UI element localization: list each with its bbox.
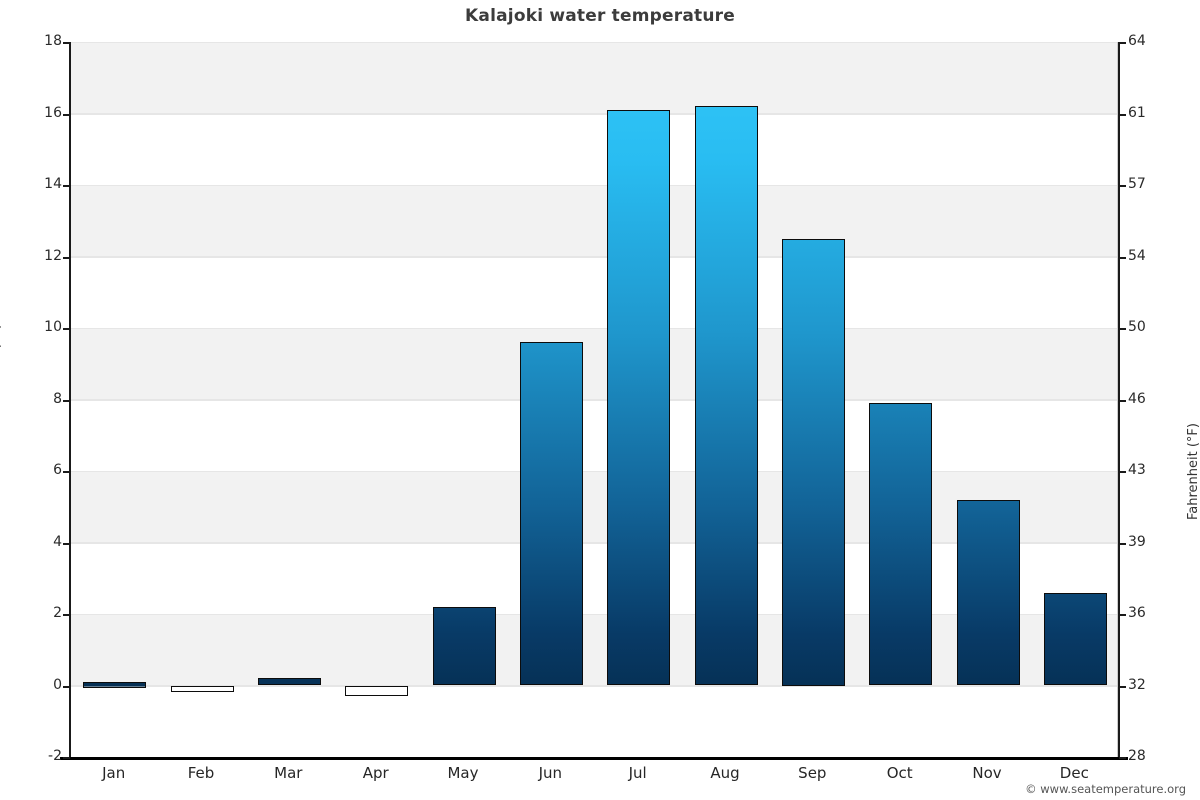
x-label-aug: Aug — [681, 764, 768, 782]
plot-area — [70, 42, 1118, 757]
page-title: Kalajoki water temperature — [0, 6, 1200, 26]
x-label-jan: Jan — [70, 764, 157, 782]
y-tick-mark-left — [63, 471, 70, 473]
y-tick-left-12: 12 — [44, 248, 62, 264]
x-label-jun: Jun — [507, 764, 594, 782]
bar-sep[interactable] — [782, 239, 845, 686]
y-tick-mark-left — [63, 328, 70, 330]
copyright-credit: © www.seatemperature.org — [1025, 782, 1186, 796]
bar-jun[interactable] — [520, 342, 583, 685]
x-label-jul: Jul — [594, 764, 681, 782]
y-tick-mark-right — [1119, 614, 1126, 616]
y-tick-mark-right — [1119, 328, 1126, 330]
y-axis-right-title: Fahrenheit (°F) — [1186, 300, 1200, 520]
y-tick-right-54: 54 — [1128, 248, 1146, 264]
y-tick-left-14: 14 — [44, 176, 62, 192]
y-tick-mark-left — [63, 686, 70, 688]
x-label-mar: Mar — [245, 764, 332, 782]
y-tick-mark-left — [63, 185, 70, 187]
y-tick-mark-left — [63, 400, 70, 402]
bar-apr[interactable] — [345, 686, 408, 697]
x-label-apr: Apr — [332, 764, 419, 782]
water-temperature-chart: Kalajoki water temperature -202468101214… — [0, 0, 1200, 800]
y-tick-right-28: 28 — [1128, 748, 1146, 764]
y-tick-right-61: 61 — [1128, 105, 1146, 121]
x-label-dec: Dec — [1031, 764, 1118, 782]
y-tick-right-57: 57 — [1128, 176, 1146, 192]
y-tick-left-10: 10 — [44, 319, 62, 335]
bar-nov[interactable] — [957, 500, 1020, 686]
y-tick-mark-left — [63, 757, 70, 759]
x-label-sep: Sep — [769, 764, 856, 782]
y-tick-mark-right — [1119, 400, 1126, 402]
y-tick-mark-left — [63, 543, 70, 545]
x-label-may: May — [419, 764, 506, 782]
y-tick-mark-left — [63, 614, 70, 616]
bar-series — [71, 42, 1117, 757]
bar-jul[interactable] — [607, 110, 670, 686]
y-tick-left-2: 2 — [53, 605, 62, 621]
y-tick-left-6: 6 — [53, 462, 62, 478]
y-tick-left--2: -2 — [48, 748, 62, 764]
y-tick-right-36: 36 — [1128, 605, 1146, 621]
x-label-feb: Feb — [157, 764, 244, 782]
y-tick-mark-left — [63, 114, 70, 116]
x-axis-line — [60, 757, 1128, 760]
bar-may[interactable] — [433, 607, 496, 686]
bar-aug[interactable] — [695, 106, 758, 685]
y-tick-left-4: 4 — [53, 534, 62, 550]
y-tick-mark-right — [1119, 543, 1126, 545]
y-tick-right-50: 50 — [1128, 319, 1146, 335]
y-tick-mark-right — [1119, 185, 1126, 187]
y-tick-right-39: 39 — [1128, 534, 1146, 550]
y-axis-left-title: Celcius (°C) — [0, 200, 3, 400]
y-tick-mark-right — [1119, 757, 1126, 759]
y-tick-mark-right — [1119, 686, 1126, 688]
y-tick-right-64: 64 — [1128, 33, 1146, 49]
y-tick-mark-right — [1119, 257, 1126, 259]
y-tick-right-46: 46 — [1128, 391, 1146, 407]
y-tick-right-32: 32 — [1128, 677, 1146, 693]
bar-oct[interactable] — [869, 403, 932, 685]
x-label-nov: Nov — [943, 764, 1030, 782]
y-tick-mark-right — [1119, 42, 1126, 44]
x-label-oct: Oct — [856, 764, 943, 782]
y-tick-left-0: 0 — [53, 677, 62, 693]
bar-feb[interactable] — [171, 686, 234, 692]
y-tick-mark-left — [63, 42, 70, 44]
y-tick-mark-right — [1119, 114, 1126, 116]
bar-dec[interactable] — [1044, 593, 1107, 686]
y-tick-mark-right — [1119, 471, 1126, 473]
y-tick-left-18: 18 — [44, 33, 62, 49]
y-tick-right-43: 43 — [1128, 462, 1146, 478]
bar-jan[interactable] — [83, 682, 146, 688]
y-tick-left-16: 16 — [44, 105, 62, 121]
y-tick-mark-left — [63, 257, 70, 259]
bar-mar[interactable] — [258, 678, 321, 685]
y-tick-left-8: 8 — [53, 391, 62, 407]
